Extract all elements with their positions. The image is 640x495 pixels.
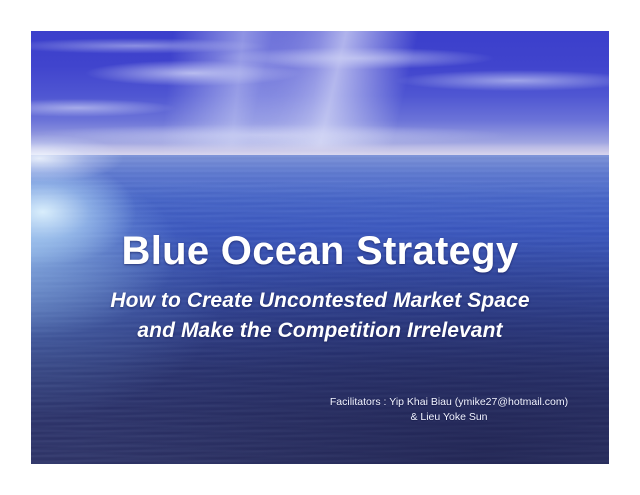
slide-page: Blue Ocean Strategy How to Create Uncont… — [0, 0, 640, 495]
slide-title: Blue Ocean Strategy — [31, 230, 609, 272]
slide-subtitle: How to Create Uncontested Market Space a… — [31, 286, 609, 346]
slide-subtitle-line-2: and Make the Competition Irrelevant — [31, 316, 609, 346]
slide-text-layer: Blue Ocean Strategy How to Create Uncont… — [31, 31, 609, 464]
co-facilitator-line: & Lieu Yoke Sun — [299, 410, 599, 425]
slide-credits: Facilitators : Yip Khai Biau (ymike27@ho… — [299, 395, 599, 425]
presentation-slide: Blue Ocean Strategy How to Create Uncont… — [31, 31, 609, 464]
slide-subtitle-line-1: How to Create Uncontested Market Space — [31, 286, 609, 316]
facilitators-line: Facilitators : Yip Khai Biau (ymike27@ho… — [299, 395, 599, 410]
